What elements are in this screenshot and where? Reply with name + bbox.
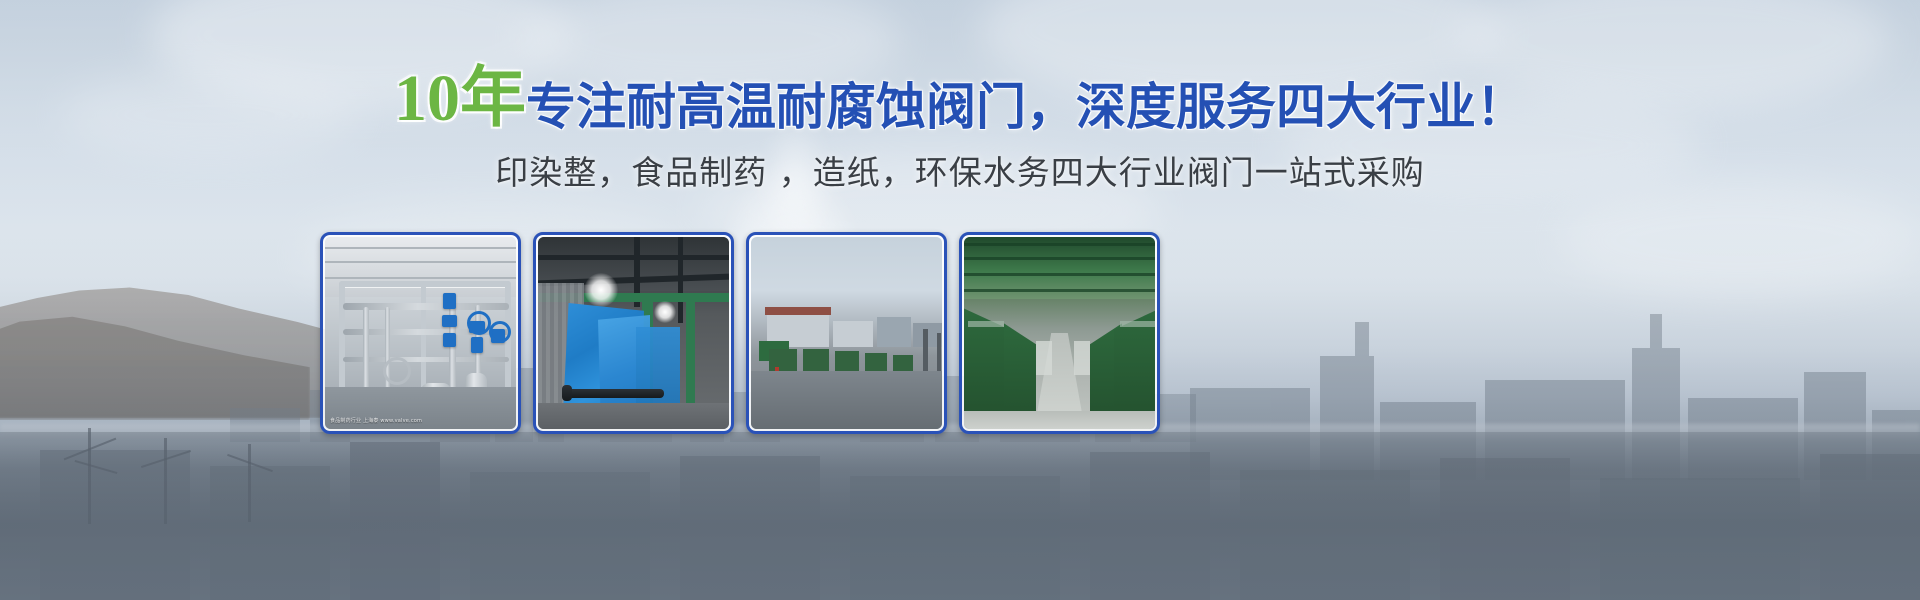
- industry-card-water-treatment-corridor[interactable]: [959, 232, 1160, 434]
- headline: 10年专注耐高温耐腐蚀阀门，深度服务四大行业！: [0, 66, 1920, 132]
- photo-water-treatment-corridor: [964, 237, 1155, 429]
- industry-card-textile-dyeing[interactable]: [533, 232, 734, 434]
- cloud-shape: [1560, 180, 1920, 300]
- handwheel: [489, 321, 511, 343]
- roller: [562, 385, 572, 401]
- machine-row: [964, 299, 1010, 417]
- foreground-industrial-band: [0, 432, 1920, 600]
- valve: [442, 315, 457, 327]
- headline-main: 专注耐高温耐腐蚀阀门，深度服务四大行业！: [526, 78, 1526, 136]
- floor: [751, 371, 942, 429]
- subtitle: 印染整，食品制药 ，造纸，环保水务四大行业阀门一站式采购: [0, 146, 1920, 194]
- floor: [538, 403, 729, 429]
- machine-row: [1004, 313, 1036, 417]
- industry-photo-cards: 食品制药行业 上海泰 www.valve.com: [320, 232, 1180, 434]
- valve: [443, 333, 456, 347]
- photo-food-pharma-piping: 食品制药行业 上海泰 www.valve.com: [325, 237, 516, 429]
- valve: [471, 337, 483, 353]
- headline-years: 10年: [394, 62, 526, 135]
- promo-banner: 10年专注耐高温耐腐蚀阀门，深度服务四大行业！ 印染整，食品制药 ，造纸，环保水…: [0, 0, 1920, 600]
- handwheel: [467, 311, 491, 335]
- lamp: [584, 273, 618, 307]
- photo-paper-mill-yard: [751, 237, 942, 429]
- machine-row: [1114, 299, 1155, 417]
- photo-watermark: 食品制药行业 上海泰 www.valve.com: [330, 418, 422, 425]
- industry-card-paper-mill-yard[interactable]: [746, 232, 947, 434]
- valve: [443, 293, 456, 309]
- photo-textile-dyeing: [538, 237, 729, 429]
- lamp: [654, 301, 676, 323]
- industry-card-food-pharma-piping[interactable]: 食品制药行业 上海泰 www.valve.com: [320, 232, 521, 434]
- roller: [568, 389, 664, 398]
